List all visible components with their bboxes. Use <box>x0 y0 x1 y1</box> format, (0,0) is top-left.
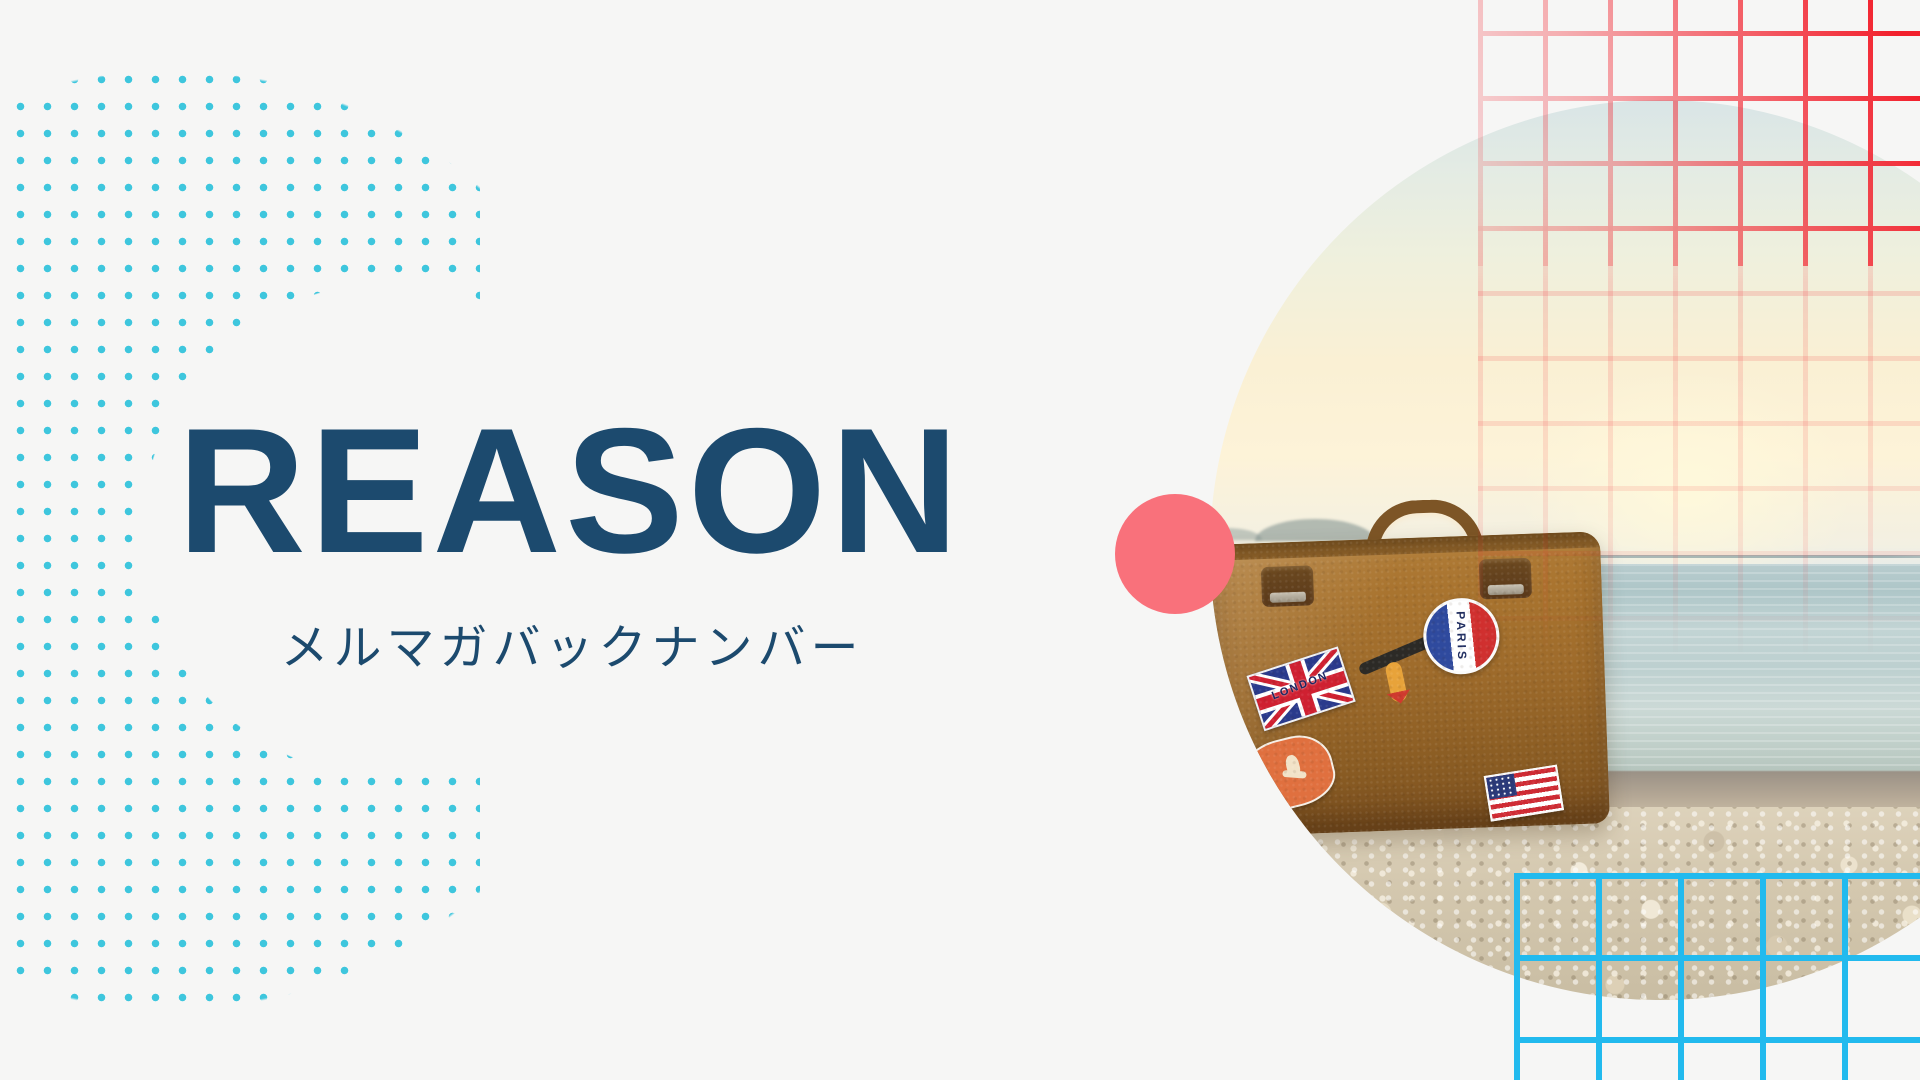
cyan-grid-decor <box>1514 873 1920 1080</box>
red-grid-decor <box>1478 0 1920 266</box>
uk-cross-red-v <box>1289 661 1317 716</box>
australia-sticker <box>1235 728 1341 818</box>
bird-body-icon <box>1384 661 1408 703</box>
usa-flag-sticker <box>1484 765 1564 822</box>
bird-sticker <box>1354 630 1453 716</box>
kangaroo-icon <box>1278 750 1313 790</box>
uk-flag-sticker: LONDON <box>1246 646 1355 731</box>
uk-cross-white-v <box>1285 659 1321 717</box>
uk-diagonal-white-1 <box>1246 669 1355 709</box>
uk-diagonal-red-2 <box>1256 646 1346 731</box>
uk-diagonal-red-1 <box>1246 672 1355 707</box>
page-subtitle: メルマガバックナンバー <box>280 608 863 678</box>
uk-diagonal-white-2 <box>1254 646 1349 731</box>
bird-wing-icon <box>1358 635 1434 677</box>
title-block: REASON メルマガバックナンバー <box>0 0 1100 1080</box>
usa-flag-canton <box>1486 773 1517 799</box>
page-title: REASON <box>177 402 963 580</box>
coral-accent-dot <box>1115 494 1235 614</box>
uk-cross-white-h <box>1255 667 1349 714</box>
suitcase-clasp-left <box>1261 565 1314 607</box>
usa-flag-stripes <box>1486 767 1562 819</box>
uk-cross-red-h <box>1256 671 1347 711</box>
australia-outline-icon <box>1235 728 1341 818</box>
uk-sticker-label: LONDON <box>1255 664 1345 708</box>
banner-canvas: LONDON PARIS <box>0 0 1920 1080</box>
bird-tail-icon <box>1387 689 1413 706</box>
